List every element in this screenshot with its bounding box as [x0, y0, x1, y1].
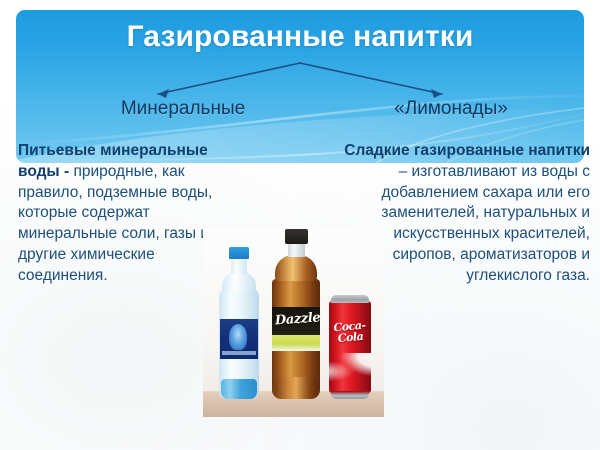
can-brand-text: Coca-Cola — [328, 319, 372, 345]
coca-cola-can: Coca-Cola — [329, 295, 371, 399]
arrow-right-line — [300, 63, 442, 94]
arrow-right-head — [431, 89, 442, 98]
water-bottle-label-text — [222, 351, 256, 355]
water-bottle-base — [221, 379, 257, 399]
slide-canvas: Газированные напитки Минеральные «Лимона… — [0, 0, 600, 450]
left-column-body: природные, как правило, подземные воды, … — [18, 163, 212, 284]
cola-bottle-label-band — [272, 335, 320, 351]
can-bottom — [331, 391, 369, 399]
water-bottle-cap — [229, 247, 249, 259]
cola-bottle-neck — [288, 243, 305, 257]
water-bottle-shoulder — [222, 272, 256, 292]
can-swoosh-ribbon-lower — [329, 361, 371, 387]
can-lid — [331, 295, 369, 303]
page-title: Газированные напитки — [16, 20, 584, 54]
water-bottle-neck — [231, 258, 247, 274]
branch-label-lemonade: «Лимонады» — [346, 98, 556, 120]
arrow-left-head — [158, 89, 169, 98]
water-bottle-label-artwork — [229, 324, 247, 350]
beverages-photo: Dazzle Coca-Cola — [203, 229, 384, 417]
cola-bottle-cap — [285, 229, 308, 244]
cola-bottle-base — [275, 377, 317, 399]
cola-bottle-shoulder — [275, 255, 317, 281]
right-column-body: – изготавливают из воды с добавлением са… — [381, 163, 590, 284]
arrow-left-line — [158, 63, 300, 94]
cola-bottle-brand-text: Dazzle — [275, 311, 318, 329]
left-text-column: Питьевые минеральные воды - природные, к… — [18, 141, 214, 287]
right-column-lead: Сладкие газированные напитки — [344, 142, 590, 159]
cola-bottle: Dazzle — [270, 229, 322, 399]
branch-label-mineral: Минеральные — [78, 98, 288, 120]
mineral-water-bottle — [217, 247, 261, 399]
